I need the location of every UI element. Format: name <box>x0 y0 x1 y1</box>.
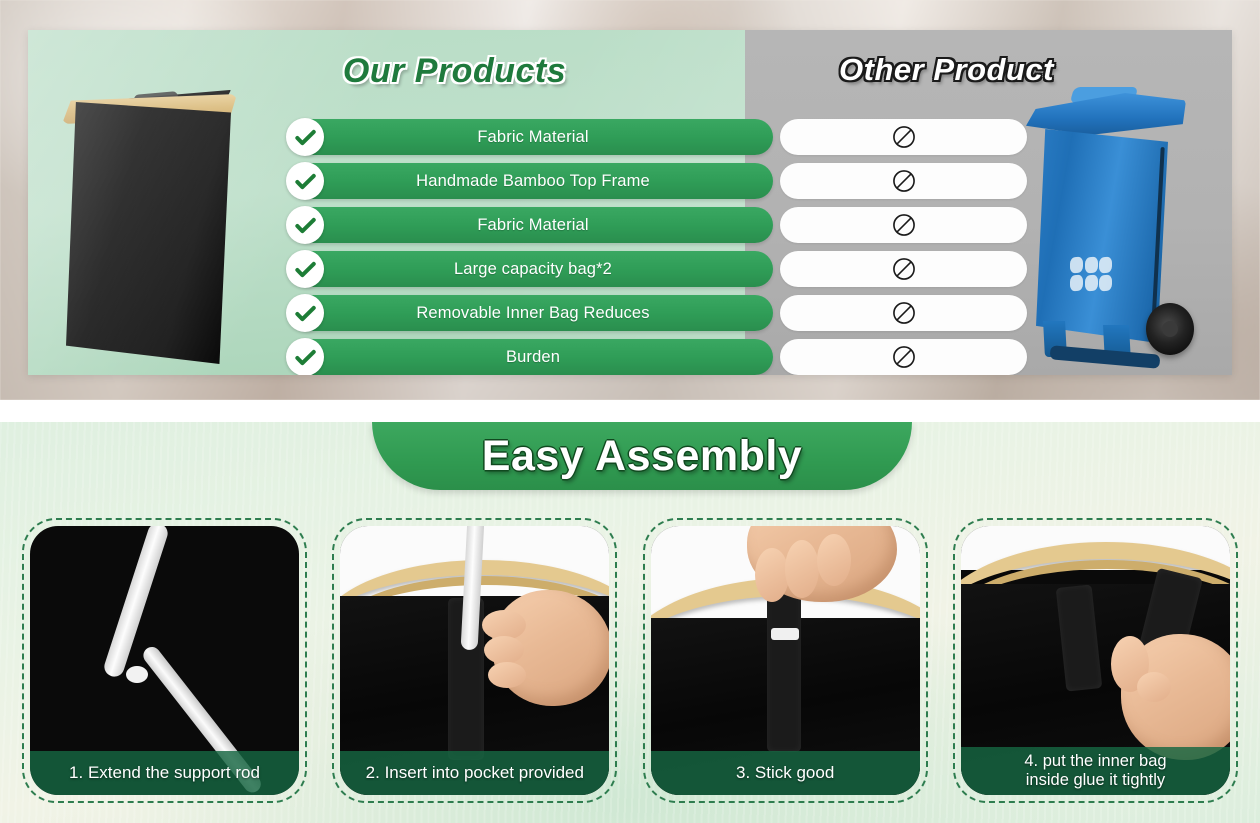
feature-label: Handmade Bamboo Top Frame <box>416 172 650 191</box>
finger <box>785 540 819 598</box>
feature-row: Large capacity bag*2 <box>28 248 1232 290</box>
prohibition-icon <box>891 300 917 326</box>
step-caption-text: 4. put the inner bag inside glue it tigh… <box>1024 752 1166 790</box>
prohibition-icon <box>891 256 917 282</box>
assembly-step-4: 4. put the inner bag inside glue it tigh… <box>953 518 1238 803</box>
finger <box>1137 672 1171 702</box>
step-photo: 2. Insert into pocket provided <box>340 526 609 795</box>
assembly-step-1: 1. Extend the support rod <box>22 518 307 803</box>
assembly-banner: Easy Assembly <box>372 422 912 490</box>
prohibition-icon <box>891 124 917 150</box>
feature-label: Fabric Material <box>477 128 588 147</box>
assembly-steps: 1. Extend the support rod <box>0 518 1260 814</box>
check-circle-icon <box>286 118 324 156</box>
feature-pill-other <box>780 163 1027 199</box>
step-photo: 3. Stick good <box>651 526 920 795</box>
step-caption: 4. put the inner bag inside glue it tigh… <box>961 747 1230 795</box>
assembly-step-2: 2. Insert into pocket provided <box>332 518 617 803</box>
feature-label: Fabric Material <box>477 216 588 235</box>
feature-pill-ours: Fabric Material <box>293 119 773 155</box>
prohibition-icon <box>891 168 917 194</box>
check-circle-icon <box>286 162 324 200</box>
feature-label: Large capacity bag*2 <box>454 260 612 279</box>
other-product-header: Other Product <box>703 52 1190 88</box>
feature-row: Handmade Bamboo Top Frame <box>28 160 1232 202</box>
feature-row: Burden <box>28 336 1232 375</box>
feature-pill-ours: Burden <box>293 339 773 375</box>
step-caption-text: 1. Extend the support rod <box>69 763 260 783</box>
check-circle-icon <box>286 338 324 375</box>
check-circle-icon <box>286 294 324 332</box>
step-photo: 1. Extend the support rod <box>30 526 299 795</box>
feature-pill-ours: Large capacity bag*2 <box>293 251 773 287</box>
prohibition-icon <box>891 212 917 238</box>
feature-pill-other <box>780 207 1027 243</box>
feature-label: Removable Inner Bag Reduces <box>416 304 649 323</box>
feature-row: Fabric Material <box>28 204 1232 246</box>
step-caption: 3. Stick good <box>651 751 920 795</box>
feature-pill-other <box>780 339 1027 375</box>
step-caption: 2. Insert into pocket provided <box>340 751 609 795</box>
velcro-strap <box>767 582 801 752</box>
feature-pill-other <box>780 119 1027 155</box>
step-caption-text: 2. Insert into pocket provided <box>366 763 584 783</box>
finger <box>755 548 789 602</box>
assembly-title: Easy Assembly <box>482 432 802 481</box>
support-rod-joint <box>126 666 148 683</box>
feature-label: Burden <box>506 348 560 367</box>
product-infographic: Our Products Other Product <box>0 0 1260 823</box>
feature-pill-other <box>780 295 1027 331</box>
feature-row: Removable Inner Bag Reduces <box>28 292 1232 334</box>
feature-pill-other <box>780 251 1027 287</box>
check-circle-icon <box>286 250 324 288</box>
comparison-card: Our Products Other Product <box>28 30 1232 375</box>
feature-pill-ours: Removable Inner Bag Reduces <box>293 295 773 331</box>
section-divider <box>0 400 1260 422</box>
velcro-patch <box>771 628 799 640</box>
check-circle-icon <box>286 206 324 244</box>
step-caption: 1. Extend the support rod <box>30 751 299 795</box>
feature-pill-ours: Handmade Bamboo Top Frame <box>293 163 773 199</box>
finger <box>817 534 851 586</box>
feature-rows: Fabric Material Handmade Bamboo Top Fram… <box>28 116 1232 368</box>
assembly-step-3: 3. Stick good <box>643 518 928 803</box>
feature-pill-ours: Fabric Material <box>293 207 773 243</box>
step-caption-text: 3. Stick good <box>736 763 834 783</box>
feature-row: Fabric Material <box>28 116 1232 158</box>
assembly-section: Easy Assembly 1. Extend the support rod <box>0 422 1260 823</box>
step-photo: 4. put the inner bag inside glue it tigh… <box>961 526 1230 795</box>
prohibition-icon <box>891 344 917 370</box>
